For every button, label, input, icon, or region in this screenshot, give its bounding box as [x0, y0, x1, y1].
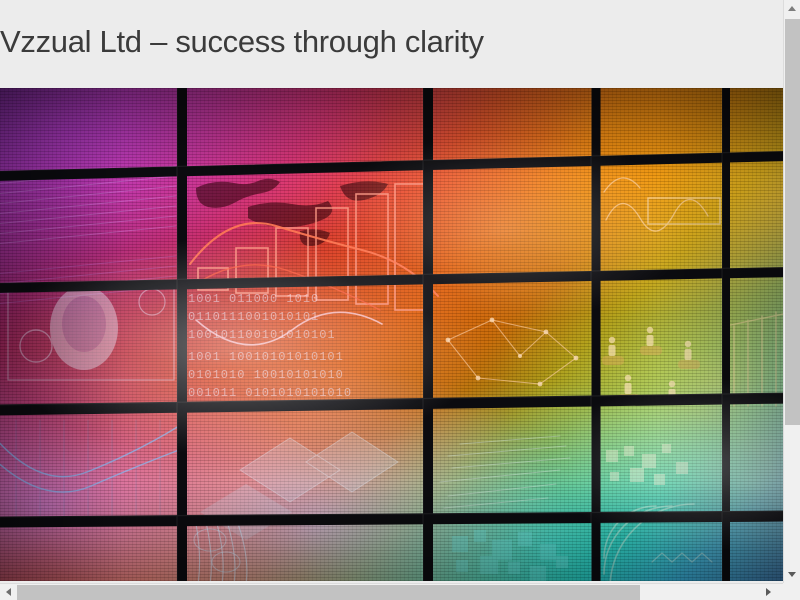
- page-title: Vzzual Ltd – success through clarity: [0, 22, 484, 62]
- chevron-right-icon: [766, 588, 771, 596]
- header-bar: Vzzual Ltd – success through clarity: [0, 0, 783, 88]
- vertical-scrollbar[interactable]: [783, 0, 800, 583]
- video-wall-image: 1001 011000 1010 0110111001010101 100101…: [0, 88, 783, 581]
- horizontal-scrollbar[interactable]: [0, 583, 783, 600]
- chevron-down-icon: [788, 572, 796, 577]
- scroll-right-button[interactable]: [760, 584, 776, 600]
- scrollbar-corner: [783, 583, 800, 600]
- chevron-left-icon: [6, 588, 11, 596]
- vertical-scroll-thumb[interactable]: [785, 19, 800, 425]
- document-viewport[interactable]: Vzzual Ltd – success through clarity: [0, 0, 783, 581]
- wall-gradient-overlay: [0, 88, 783, 581]
- scroll-left-button[interactable]: [0, 584, 16, 600]
- scroll-down-button[interactable]: [784, 566, 800, 583]
- horizontal-scroll-thumb[interactable]: [17, 585, 640, 600]
- chevron-up-icon: [788, 6, 796, 11]
- application-window: Vzzual Ltd – success through clarity: [0, 0, 800, 600]
- scroll-up-button[interactable]: [784, 0, 800, 17]
